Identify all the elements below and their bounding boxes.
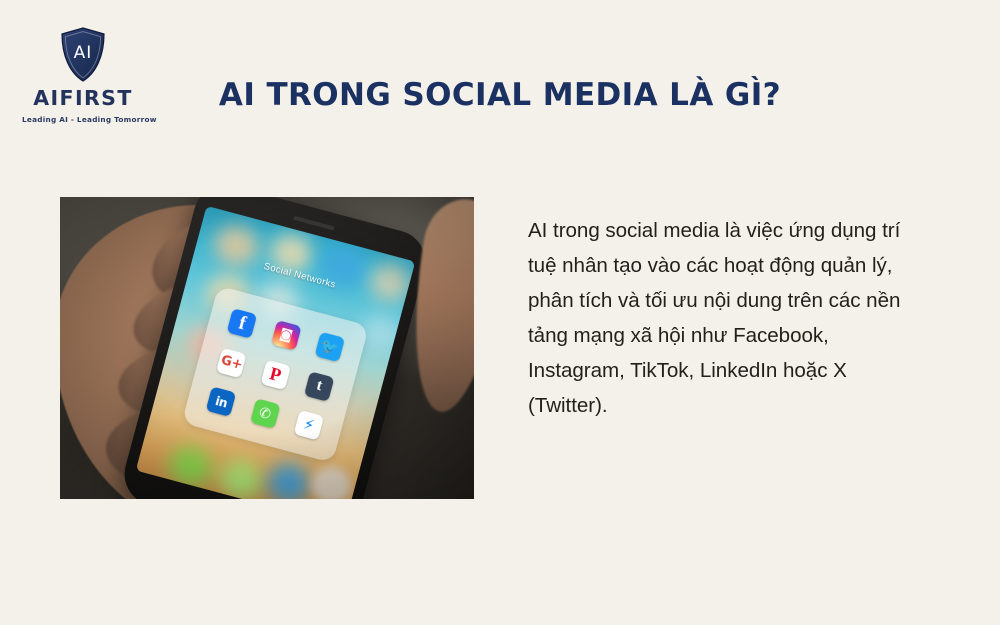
slide-canvas: AI AIFIRST Leading AI - Leading Tomorrow… (0, 0, 1000, 625)
wallpaper-blob (165, 441, 218, 491)
shield-logo-icon: AI (22, 24, 144, 86)
instagram-app-icon: ◙ (271, 320, 302, 351)
messenger-app-icon: ⚡ (293, 410, 324, 441)
phone-earpiece (293, 216, 335, 231)
app-folder-panel: f ◙ 🐦 G+ P t in ✆ ⚡ (182, 286, 369, 464)
wallpaper-blob (263, 459, 314, 499)
svg-text:AI: AI (74, 43, 93, 63)
phone-photo: Social Networks f ◙ 🐦 G+ P t in ✆ ⚡ (60, 197, 474, 499)
pinterest-app-icon: P (260, 359, 291, 390)
tumblr-app-icon: t (304, 371, 335, 402)
twitter-app-icon: 🐦 (314, 332, 345, 363)
linkedin-app-icon: in (206, 387, 237, 418)
app-icon-grid: f ◙ 🐦 G+ P t in ✆ ⚡ (197, 301, 353, 448)
slide-title: AI TRONG SOCIAL MEDIA LÀ GÌ? (0, 78, 1000, 114)
wallpaper-blob (307, 462, 355, 499)
wallpaper-blob (215, 455, 268, 499)
body-paragraph: AI trong social media là việc ứng dụng t… (528, 213, 906, 423)
facebook-app-icon: f (227, 308, 258, 339)
brand-tagline: Leading AI - Leading Tomorrow (22, 116, 144, 123)
whatsapp-app-icon: ✆ (250, 398, 281, 429)
google-plus-app-icon: G+ (216, 348, 247, 379)
